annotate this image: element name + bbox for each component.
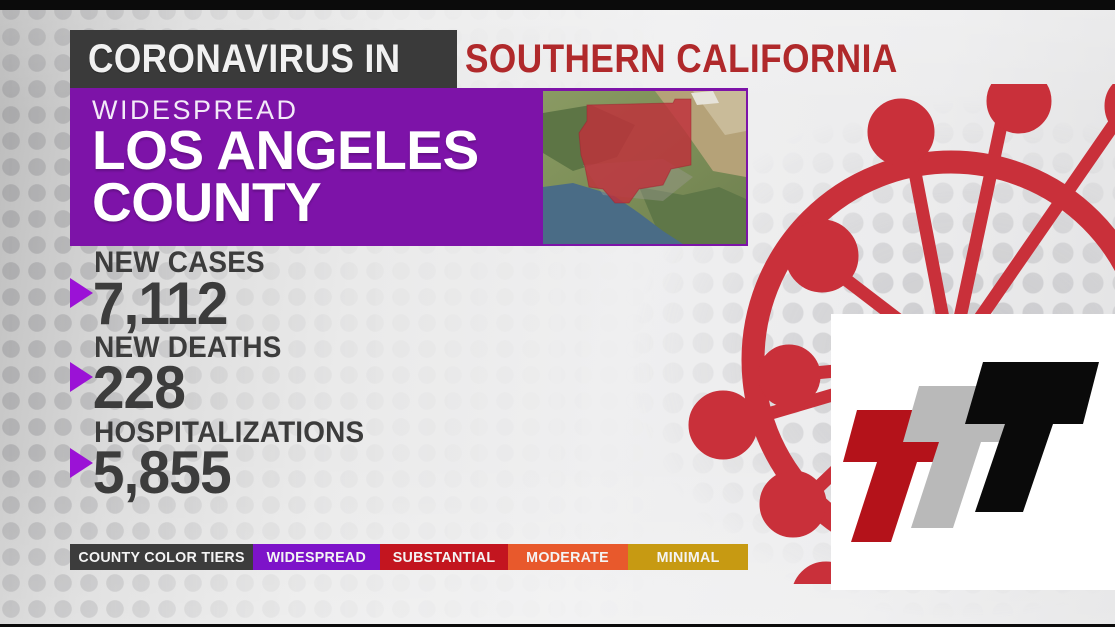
headline-primary-text: CORONAVIRUS IN [88, 39, 401, 79]
station-logo [831, 314, 1115, 590]
county-banner: WIDESPREAD LOS ANGELES COUNTY [70, 88, 748, 246]
tier-legend-heading: COUNTY COLOR TIERS [70, 544, 253, 570]
stat-value: 5,855 [70, 445, 564, 500]
tier-legend-heading-label: COUNTY COLOR TIERS [78, 549, 244, 566]
tier-widespread: WIDESPREAD [253, 544, 380, 570]
stat-row: HOSPITALIZATIONS 5,855 [70, 418, 590, 501]
tier-moderate-label: MODERATE [527, 549, 610, 566]
headline-region-text: SOUTHERN CALIFORNIA [465, 39, 898, 79]
tier-substantial-label: SUBSTANTIAL [393, 549, 496, 566]
county-color-tier-legend: COUNTY COLOR TIERS WIDESPREAD SUBSTANTIA… [70, 544, 748, 570]
stat-row: NEW DEATHS 228 [70, 333, 590, 416]
tier-minimal-label: MINIMAL [657, 549, 720, 566]
tier-moderate: MODERATE [508, 544, 628, 570]
headline-primary: CORONAVIRUS IN [70, 30, 457, 88]
stat-row: NEW CASES 7,112 [70, 248, 590, 331]
stat-value: 228 [70, 360, 564, 415]
county-banner-text: WIDESPREAD LOS ANGELES COUNTY [70, 88, 479, 246]
headline-bar: CORONAVIRUS IN SOUTHERN CALIFORNIA [70, 30, 965, 88]
tier-substantial: SUBSTANTIAL [380, 544, 508, 570]
los-angeles-county-satellite-map [543, 91, 746, 244]
headline-region: SOUTHERN CALIFORNIA [457, 30, 965, 88]
county-name-line2: COUNTY [92, 177, 479, 228]
letterbox-top-bar [0, 0, 1115, 10]
broadcast-graphic-screen: CORONAVIRUS IN SOUTHERN CALIFORNIA WIDES… [0, 0, 1115, 627]
statistics-list: NEW CASES 7,112 NEW DEATHS 228 HOSPITALI… [70, 248, 590, 502]
tier-minimal: MINIMAL [628, 544, 748, 570]
stat-value: 7,112 [70, 276, 564, 331]
tier-widespread-label: WIDESPREAD [267, 549, 366, 566]
county-name-line1: LOS ANGELES [92, 125, 479, 176]
